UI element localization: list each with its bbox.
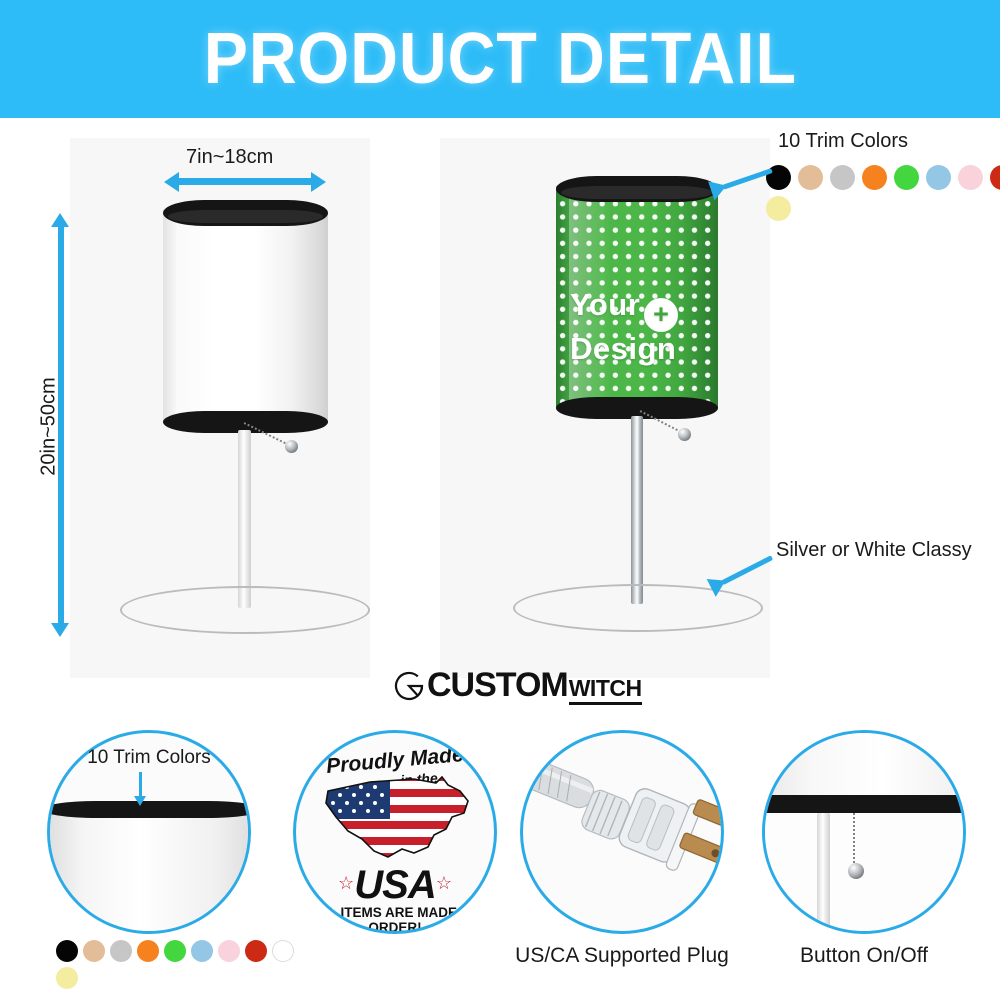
trim-color-swatch-yellow[interactable] <box>766 196 791 221</box>
height-dimension-label: 20in~50cm <box>38 347 61 507</box>
trim-color-swatch-tan[interactable] <box>83 940 105 962</box>
brand-logo: CUSTOM WITCH <box>392 666 642 705</box>
feature-made-in-usa-circle: Proudly Made in the <box>293 730 497 934</box>
plus-badge-icon: + <box>644 298 678 332</box>
feature-trim-colors-swatches[interactable] <box>56 940 294 989</box>
feature-button-circle <box>762 730 966 934</box>
trim-color-swatch-white[interactable] <box>272 940 294 962</box>
feature-button-pull-chain[interactable] <box>849 813 865 885</box>
feature-trim-colors-arrow <box>137 772 145 806</box>
lamp-white-pole <box>238 430 251 608</box>
your-design-line1: Your <box>570 287 640 322</box>
lamp-white-trim-top <box>163 200 328 226</box>
feature-button-caption: Button On/Off <box>762 944 966 968</box>
power-plug-icon <box>523 733 724 934</box>
trim-color-swatch-gray[interactable] <box>110 940 132 962</box>
usa-map-flag-icon <box>318 773 478 865</box>
feature-trim-colors-caption: 10 Trim Colors <box>47 747 251 769</box>
base-finish-callout-label: Silver or White Classy <box>776 539 972 562</box>
your-design-text: Your+ Design <box>570 288 678 366</box>
lamp-white-pull-chain[interactable] <box>244 418 304 478</box>
usa-badge: Proudly Made in the <box>296 733 494 931</box>
brand-name-secondary: WITCH <box>569 677 642 700</box>
lamp-green-pole <box>631 416 643 604</box>
feature-button-pole <box>817 813 830 934</box>
trim-color-swatch-orange[interactable] <box>862 165 887 190</box>
usa-word: USA <box>296 863 494 908</box>
trim-color-swatch-red[interactable] <box>990 165 1000 190</box>
width-dimension-label: 7in~18cm <box>186 146 273 169</box>
your-design-line2: Design <box>570 331 676 366</box>
brand-name-secondary-wrap: WITCH <box>569 677 642 705</box>
usa-star-right-icon: ☆ <box>436 873 452 894</box>
trim-color-swatch-green[interactable] <box>164 940 186 962</box>
trim-colors-swatches-top[interactable] <box>766 165 1000 221</box>
lamp-green-shade: Your+ Design <box>556 184 718 412</box>
page-title: PRODUCT DETAIL <box>203 18 796 100</box>
logo-c-icon <box>392 669 426 703</box>
logo-underline <box>569 702 642 705</box>
usa-subtitle: ALL ITEMS ARE MADE TO ORDER! <box>296 905 494 934</box>
feature-plug-circle <box>520 730 724 934</box>
lamp-green-base <box>581 588 693 632</box>
trim-color-swatch-orange[interactable] <box>137 940 159 962</box>
trim-color-swatch-pink[interactable] <box>218 940 240 962</box>
trim-color-swatch-pink[interactable] <box>958 165 983 190</box>
lamp-green-shade-surface: Your+ Design <box>556 184 718 412</box>
lamp-white-shade <box>163 208 328 426</box>
width-dimension-arrow <box>178 178 312 185</box>
trim-color-swatch-light-blue[interactable] <box>191 940 213 962</box>
trim-color-swatch-light-blue[interactable] <box>926 165 951 190</box>
trim-color-swatch-red[interactable] <box>245 940 267 962</box>
lamp-green-pull-chain[interactable] <box>640 406 700 466</box>
trim-colors-callout-label: 10 Trim Colors <box>778 130 908 153</box>
trim-color-swatch-green[interactable] <box>894 165 919 190</box>
lamp-white-base <box>188 590 300 634</box>
trim-color-swatch-black[interactable] <box>56 940 78 962</box>
feature-plug-caption: US/CA Supported Plug <box>490 944 754 968</box>
lamp-white-shade-surface <box>163 208 328 426</box>
trim-color-swatch-gray[interactable] <box>830 165 855 190</box>
product-stage: 7in~18cm 20in~50cm <box>0 118 1000 718</box>
header-banner: PRODUCT DETAIL <box>0 0 1000 118</box>
trim-color-swatch-tan[interactable] <box>798 165 823 190</box>
shade-highlight <box>176 208 219 426</box>
lamp-green-trim-top <box>556 176 718 202</box>
brand-name-primary: CUSTOM <box>427 666 568 705</box>
trim-color-swatch-yellow[interactable] <box>56 967 78 989</box>
